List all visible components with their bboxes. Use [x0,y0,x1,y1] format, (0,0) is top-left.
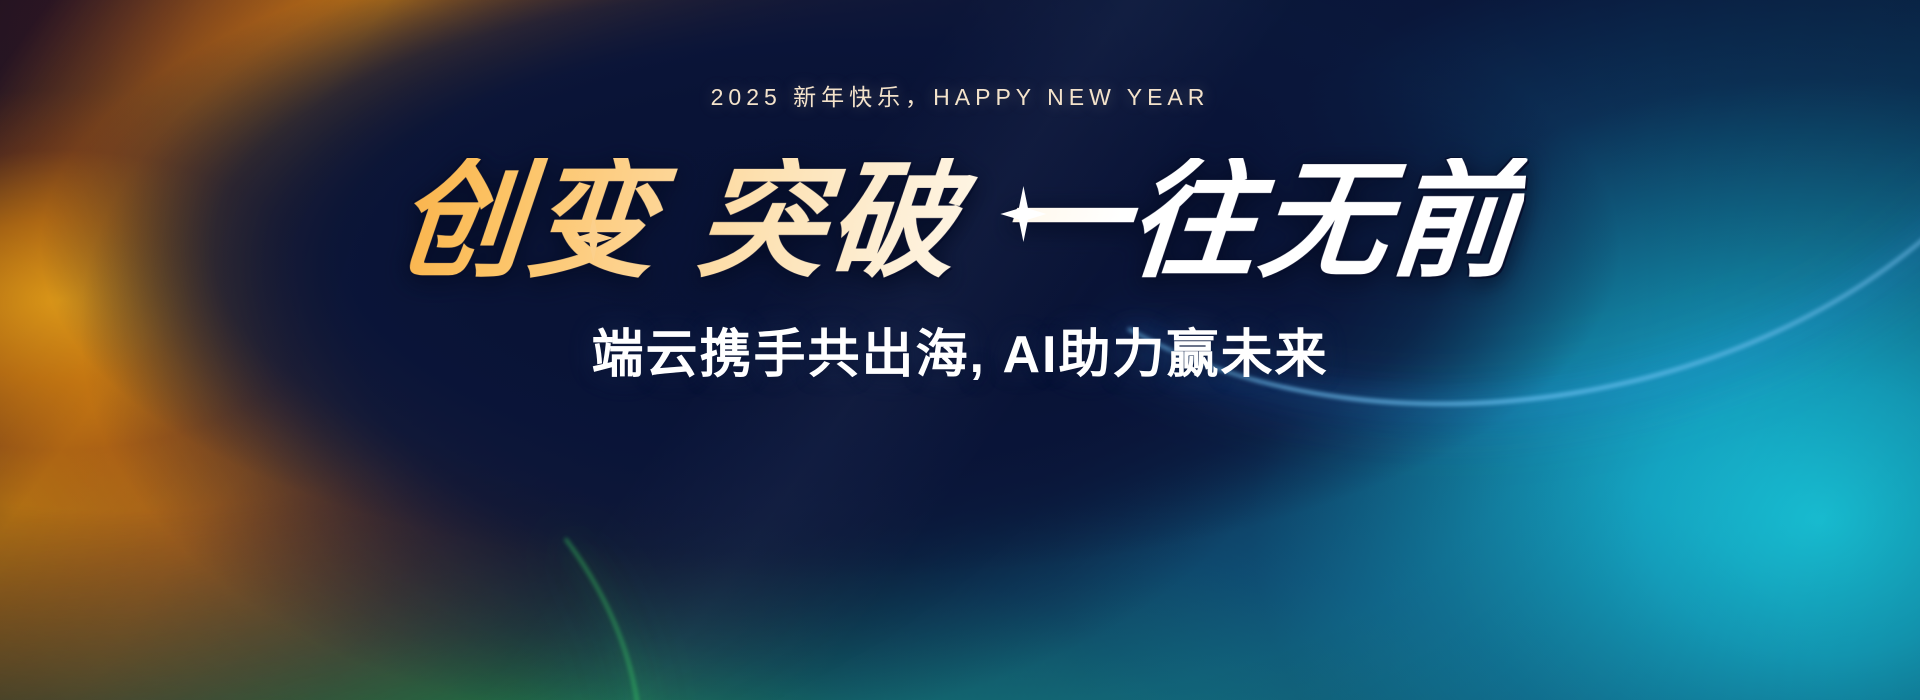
banner-eyebrow-text: 2025 新年快乐，HAPPY NEW YEAR [711,78,1210,112]
banner-headline-text: 创变 突破 一往无前 [392,158,1528,286]
banner-subheadline-text: 端云携手共出海, AI助力赢未来 [592,312,1329,387]
banner-content: 2025 新年快乐，HAPPY NEW YEAR 创变 突破 一往无前 端云携手… [0,0,1920,700]
banner-headline-wrap: 创变 突破 一往无前 [397,158,1522,286]
promo-banner: 2025 新年快乐，HAPPY NEW YEAR 创变 突破 一往无前 端云携手… [0,0,1920,700]
